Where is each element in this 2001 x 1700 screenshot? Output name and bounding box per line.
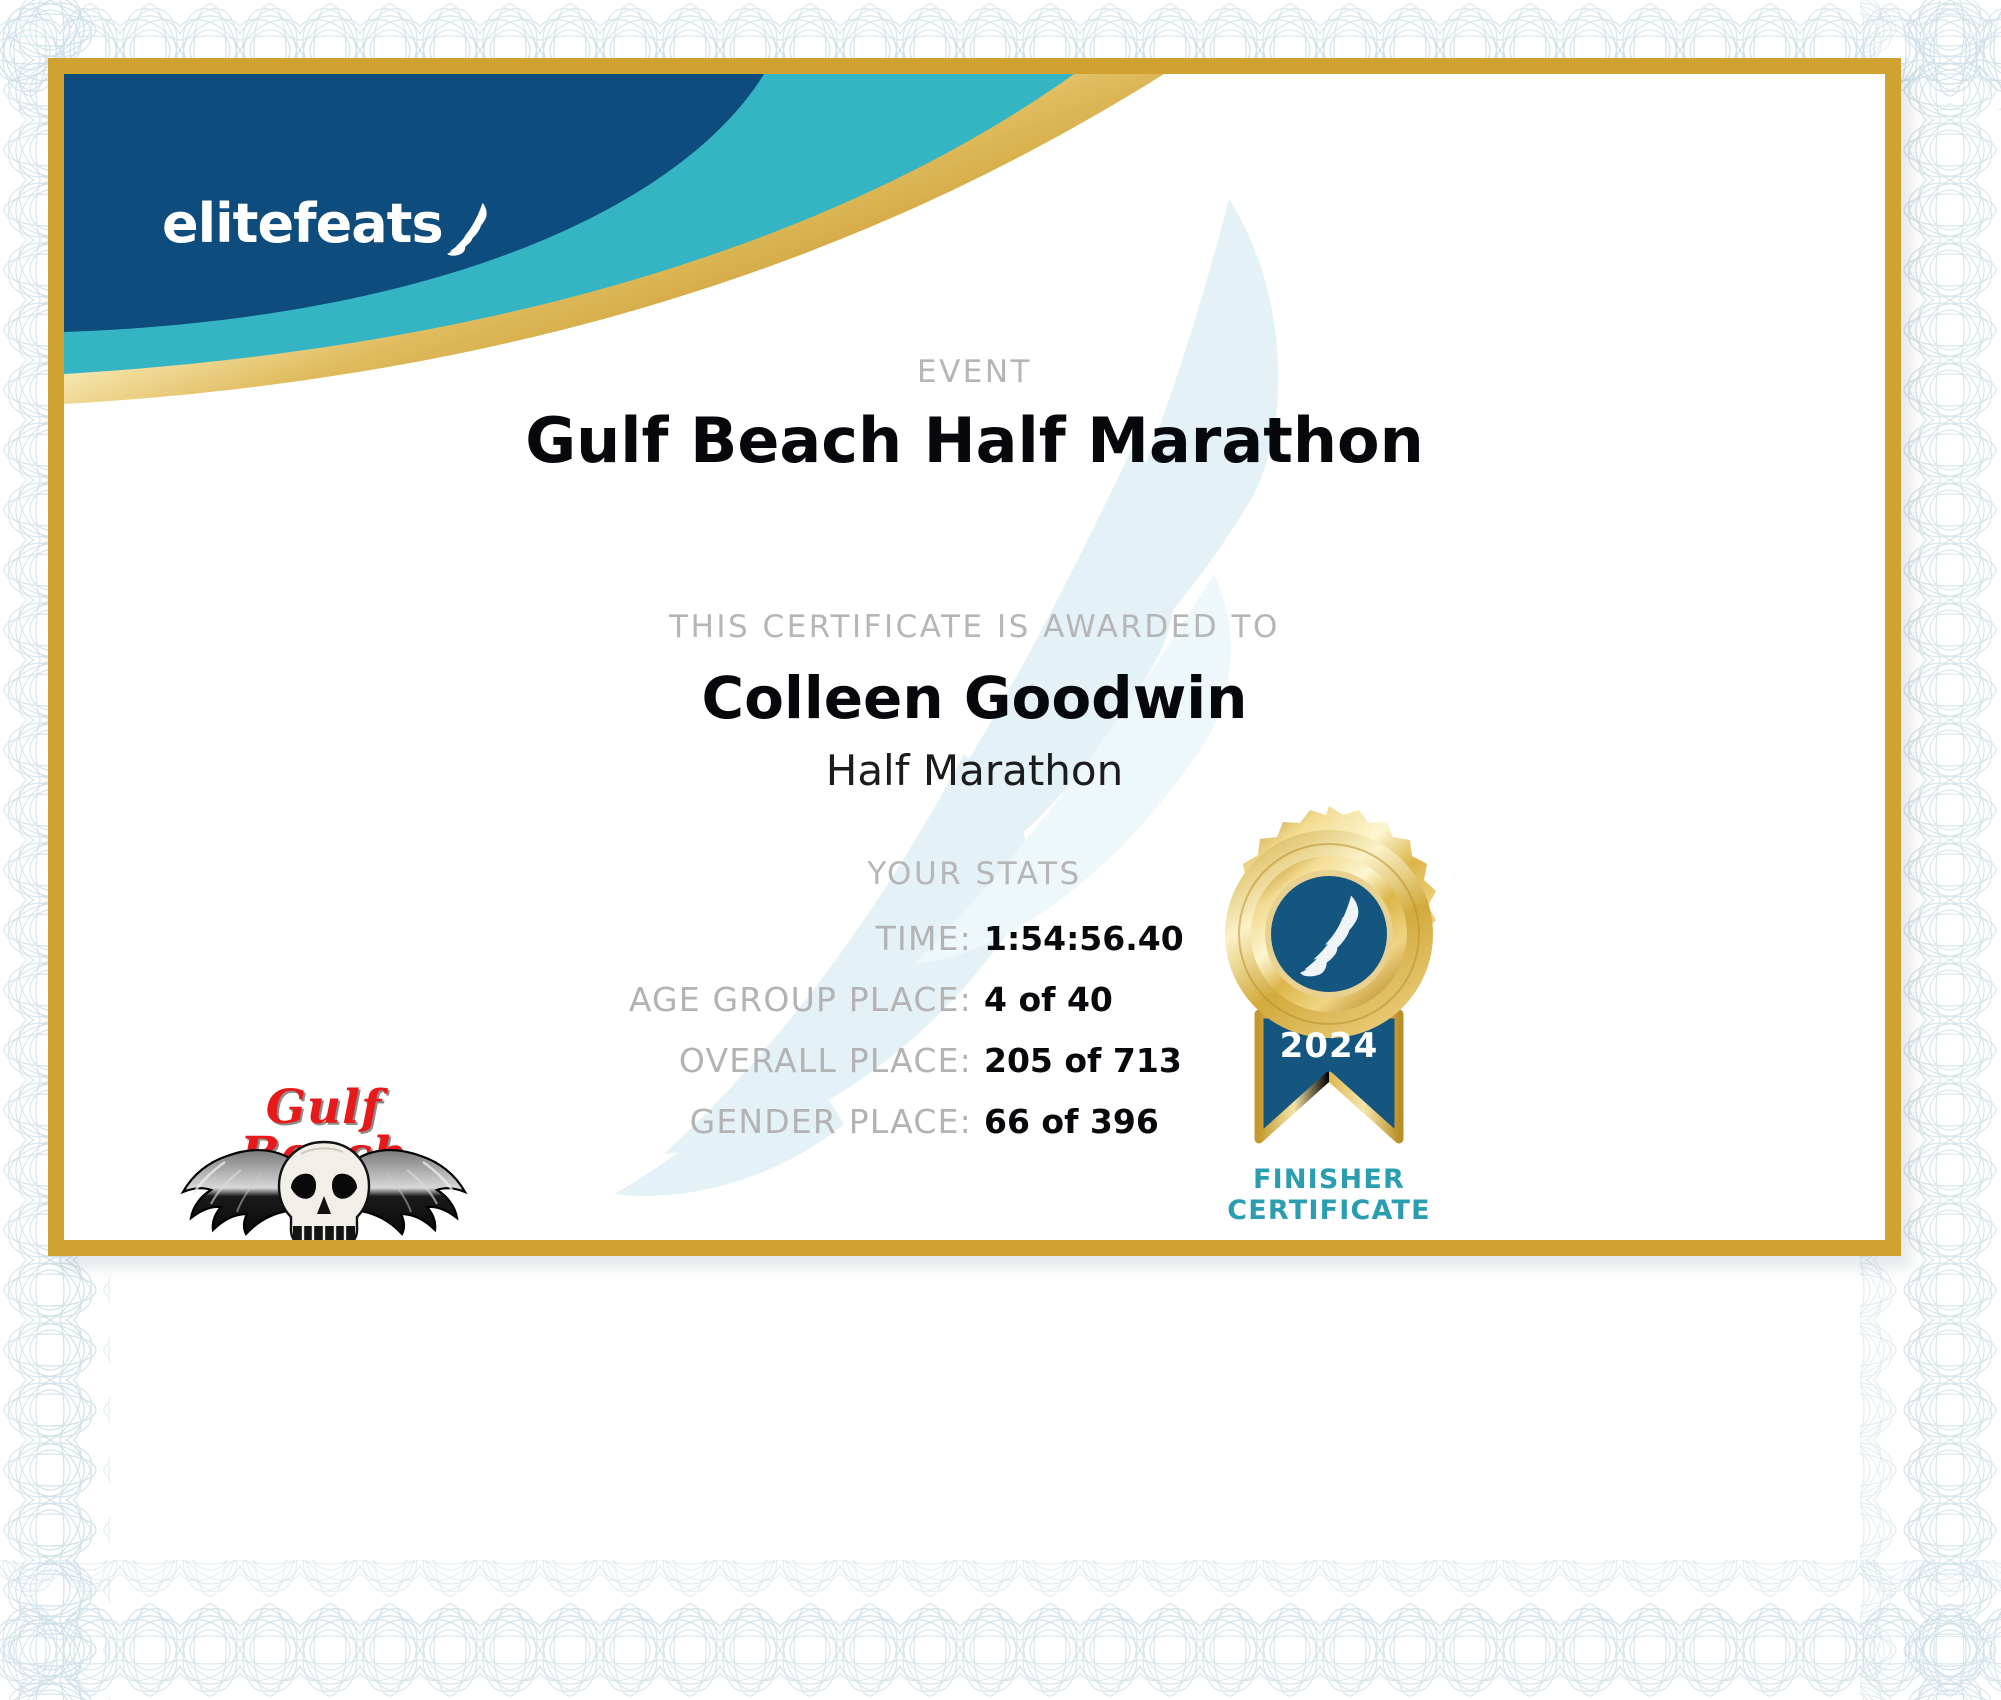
certificate-card: elitefeats EVENT Gulf Beach Half Maratho… [48,58,1901,1256]
finisher-medal [1204,804,1454,1164]
event-logo: Gulf Beach [174,1084,474,1240]
winged-skull-icon [179,1134,469,1240]
stat-row-age-group-place: AGE GROUP PLACE: 4 of 40 [64,980,1885,1019]
awardee-name: Colleen Goodwin [64,664,1885,732]
medal-caption-line2: CERTIFICATE [1164,1195,1494,1226]
stat-row-overall-place: OVERALL PLACE: 205 of 713 [64,1041,1885,1080]
stat-label-overall-place: OVERALL PLACE: [64,1041,972,1080]
event-label: EVENT [64,354,1885,390]
stat-row-time: TIME: 1:54:56.40 [64,919,1885,958]
brand-wordmark: elitefeats [162,197,443,251]
awardee-division: Half Marathon [64,746,1885,795]
event-title: Gulf Beach Half Marathon [64,404,1885,477]
stat-label-time: TIME: [64,919,972,958]
stat-label-age-group-place: AGE GROUP PLACE: [64,980,972,1019]
elitefeats-logo: elitefeats [162,179,492,269]
winged-foot-icon [443,190,492,268]
your-stats-label: YOUR STATS [64,856,1885,892]
medal-year: 2024 [1204,1026,1454,1066]
certificate-page: elitefeats EVENT Gulf Beach Half Maratho… [0,0,2001,1700]
medal-caption-line1: FINISHER [1164,1164,1494,1195]
awarded-to-label: THIS CERTIFICATE IS AWARDED TO [64,609,1885,645]
medal-caption: FINISHER CERTIFICATE [1164,1164,1494,1226]
